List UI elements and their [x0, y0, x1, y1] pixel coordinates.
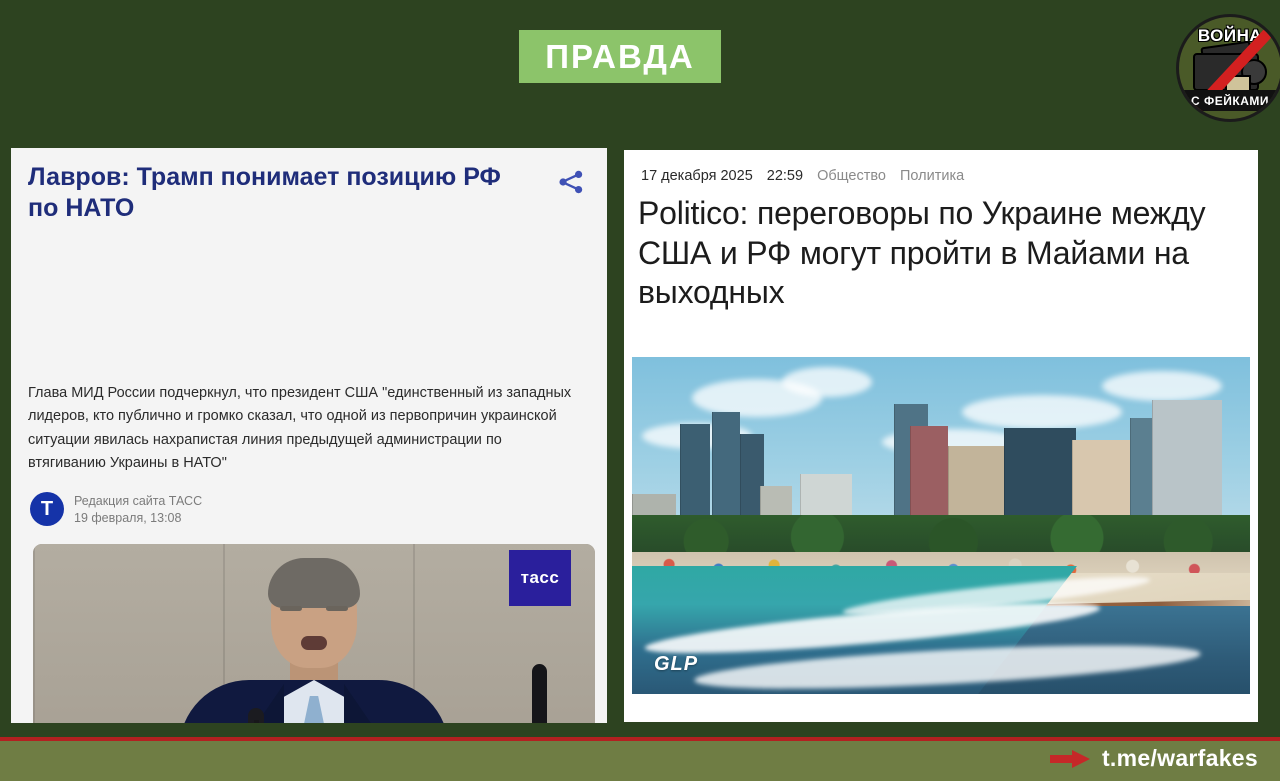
article-meta: 17 декабря 2025 22:59 Общество Политика	[641, 168, 964, 184]
logo-bottom-label: С ФЕЙКАМИ	[1191, 94, 1269, 108]
meta-category-politics[interactable]: Политика	[900, 168, 964, 184]
microphone-stand	[254, 720, 259, 723]
meta-category-society[interactable]: Общество	[817, 168, 886, 184]
telegram-link[interactable]: t.me/warfakes	[1050, 745, 1258, 772]
photo-subject-mouth	[301, 636, 327, 650]
meta-date: 17 декабря 2025	[641, 168, 753, 184]
byline-text-group: Редакция сайта ТАСС 19 февраля, 13:08	[74, 494, 202, 525]
warfakes-logo-badge: ВОЙНА С ФЕЙКАМИ	[1176, 14, 1280, 122]
arrow-right-icon	[1050, 750, 1090, 768]
pravda-banner-label: ПРАВДА	[545, 38, 694, 76]
telegram-link-label: t.me/warfakes	[1102, 745, 1258, 772]
tass-watermark-label: тасс	[521, 568, 560, 588]
meta-time: 22:59	[767, 168, 803, 184]
miami-beach-photo: GLP	[632, 357, 1250, 694]
glp-watermark: GLP	[654, 653, 698, 676]
tass-headline: Лавров: Трамп понимает позицию РФ по НАТ…	[28, 162, 518, 223]
tass-body-text: Глава МИД России подчеркнул, что президе…	[28, 382, 573, 476]
microphone-secondary	[532, 664, 547, 723]
tass-byline: Т Редакция сайта ТАСС 19 февраля, 13:08	[30, 492, 202, 526]
byline-author: Редакция сайта ТАСС	[74, 494, 202, 508]
avatar: Т	[30, 492, 64, 526]
photo-subject-brow-right	[326, 606, 348, 611]
lavrov-photo: тасс	[33, 544, 595, 723]
photo-subject-brow-left	[280, 606, 302, 611]
photo-subject-hair	[268, 558, 360, 608]
tass-watermark: тасс	[509, 550, 571, 606]
tass-article-card: Лавров: Трамп понимает позицию РФ по НАТ…	[11, 148, 607, 723]
logo-bottom-band: С ФЕЙКАМИ	[1179, 90, 1280, 111]
share-icon[interactable]	[557, 168, 585, 196]
pravda-banner: ПРАВДА	[519, 30, 721, 83]
politico-headline: Politico: переговоры по Украине между СШ…	[638, 194, 1238, 313]
politico-article-card: 17 декабря 2025 22:59 Общество Политика …	[624, 150, 1258, 722]
byline-timestamp: 19 февраля, 13:08	[74, 511, 202, 525]
